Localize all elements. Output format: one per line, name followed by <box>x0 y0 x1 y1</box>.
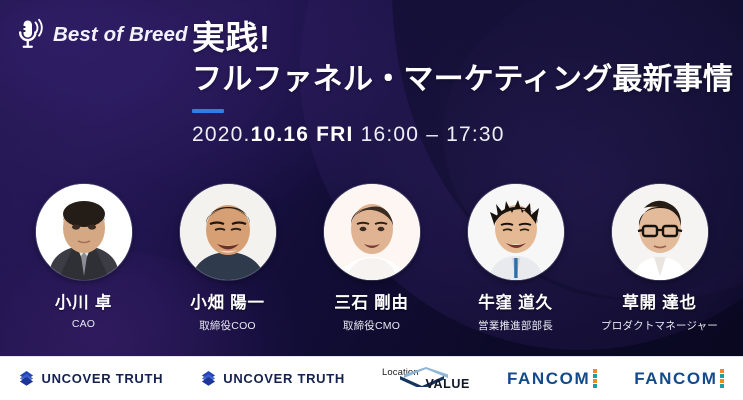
speaker-photo-5 <box>612 184 708 280</box>
logo-text: UNCOVER TRUTH <box>223 371 345 386</box>
speaker-name: 草開 達也 <box>622 289 697 313</box>
speaker-card: 小畑 陽一 取締役COO <box>172 184 284 333</box>
brand-logo: Best of Breed <box>16 18 188 52</box>
logo-uncover-truth: UNCOVER TRUTH <box>18 370 163 387</box>
accent-bar <box>192 109 224 113</box>
logo-fancom: FANCOM <box>507 369 597 389</box>
sponsor-footer: UNCOVER TRUTH UNCOVER TRUTH Location VAL… <box>0 356 743 400</box>
logo-text: UNCOVER TRUTH <box>41 371 163 386</box>
speaker-role: CAO <box>72 318 95 330</box>
speaker-role: 営業推進部部長 <box>478 318 553 333</box>
speaker-card: 小川 卓 CAO <box>28 184 140 333</box>
event-datetime: 2020.10.16 FRI 16:00 – 17:30 <box>192 123 733 147</box>
title-line-1: 実践! <box>192 18 733 58</box>
speaker-role: 取締役CMO <box>343 318 400 333</box>
speaker-photo-3 <box>324 184 420 280</box>
speaker-photo-1 <box>36 184 132 280</box>
logo-word-value: VALUE <box>426 378 470 391</box>
speaker-card: 三石 剛由 取締役CMO <box>316 184 428 333</box>
speaker-list: 小川 卓 CAO 小畑 陽 <box>0 184 743 333</box>
speaker-role: 取締役COO <box>199 318 256 333</box>
logo-fancom: FANCOM <box>634 369 724 389</box>
avatar <box>468 184 564 280</box>
avatar <box>324 184 420 280</box>
microphone-icon <box>16 18 46 52</box>
speaker-role: プロダクトマネージャー <box>601 318 718 333</box>
diamond-stack-icon <box>18 370 35 387</box>
speaker-name: 小畑 陽一 <box>190 289 265 313</box>
speaker-name: 牛窪 道久 <box>478 289 553 313</box>
speaker-photo-4 <box>468 184 564 280</box>
dot-stack-icon <box>593 369 597 388</box>
date-prefix: 2020. <box>192 123 251 146</box>
avatar <box>612 184 708 280</box>
diamond-stack-icon <box>200 370 217 387</box>
logo-location-value: Location VALUE <box>382 367 470 391</box>
brand-name: Best of Breed <box>53 23 188 47</box>
speaker-name: 小川 卓 <box>55 289 112 313</box>
event-time: 16:00 – 17:30 <box>354 123 505 146</box>
avatar <box>36 184 132 280</box>
speaker-card: 草開 達也 プロダクトマネージャー <box>604 184 716 333</box>
logo-text: FANCOM <box>634 369 717 389</box>
date-strong: 10.16 FRI <box>251 123 354 146</box>
logo-text: FANCOM <box>507 369 590 389</box>
webinar-banner: Best of Breed 実践! フルファネル・マーケティング最新事情 202… <box>0 0 743 400</box>
dot-stack-icon <box>720 369 724 388</box>
title-line-2: フルファネル・マーケティング最新事情 <box>192 60 733 99</box>
logo-uncover-truth: UNCOVER TRUTH <box>200 370 345 387</box>
avatar <box>180 184 276 280</box>
speaker-photo-2 <box>180 184 276 280</box>
speaker-name: 三石 剛由 <box>334 289 409 313</box>
speaker-card: 牛窪 道久 営業推進部部長 <box>460 184 572 333</box>
title-block: 実践! フルファネル・マーケティング最新事情 2020.10.16 FRI 16… <box>192 18 733 147</box>
